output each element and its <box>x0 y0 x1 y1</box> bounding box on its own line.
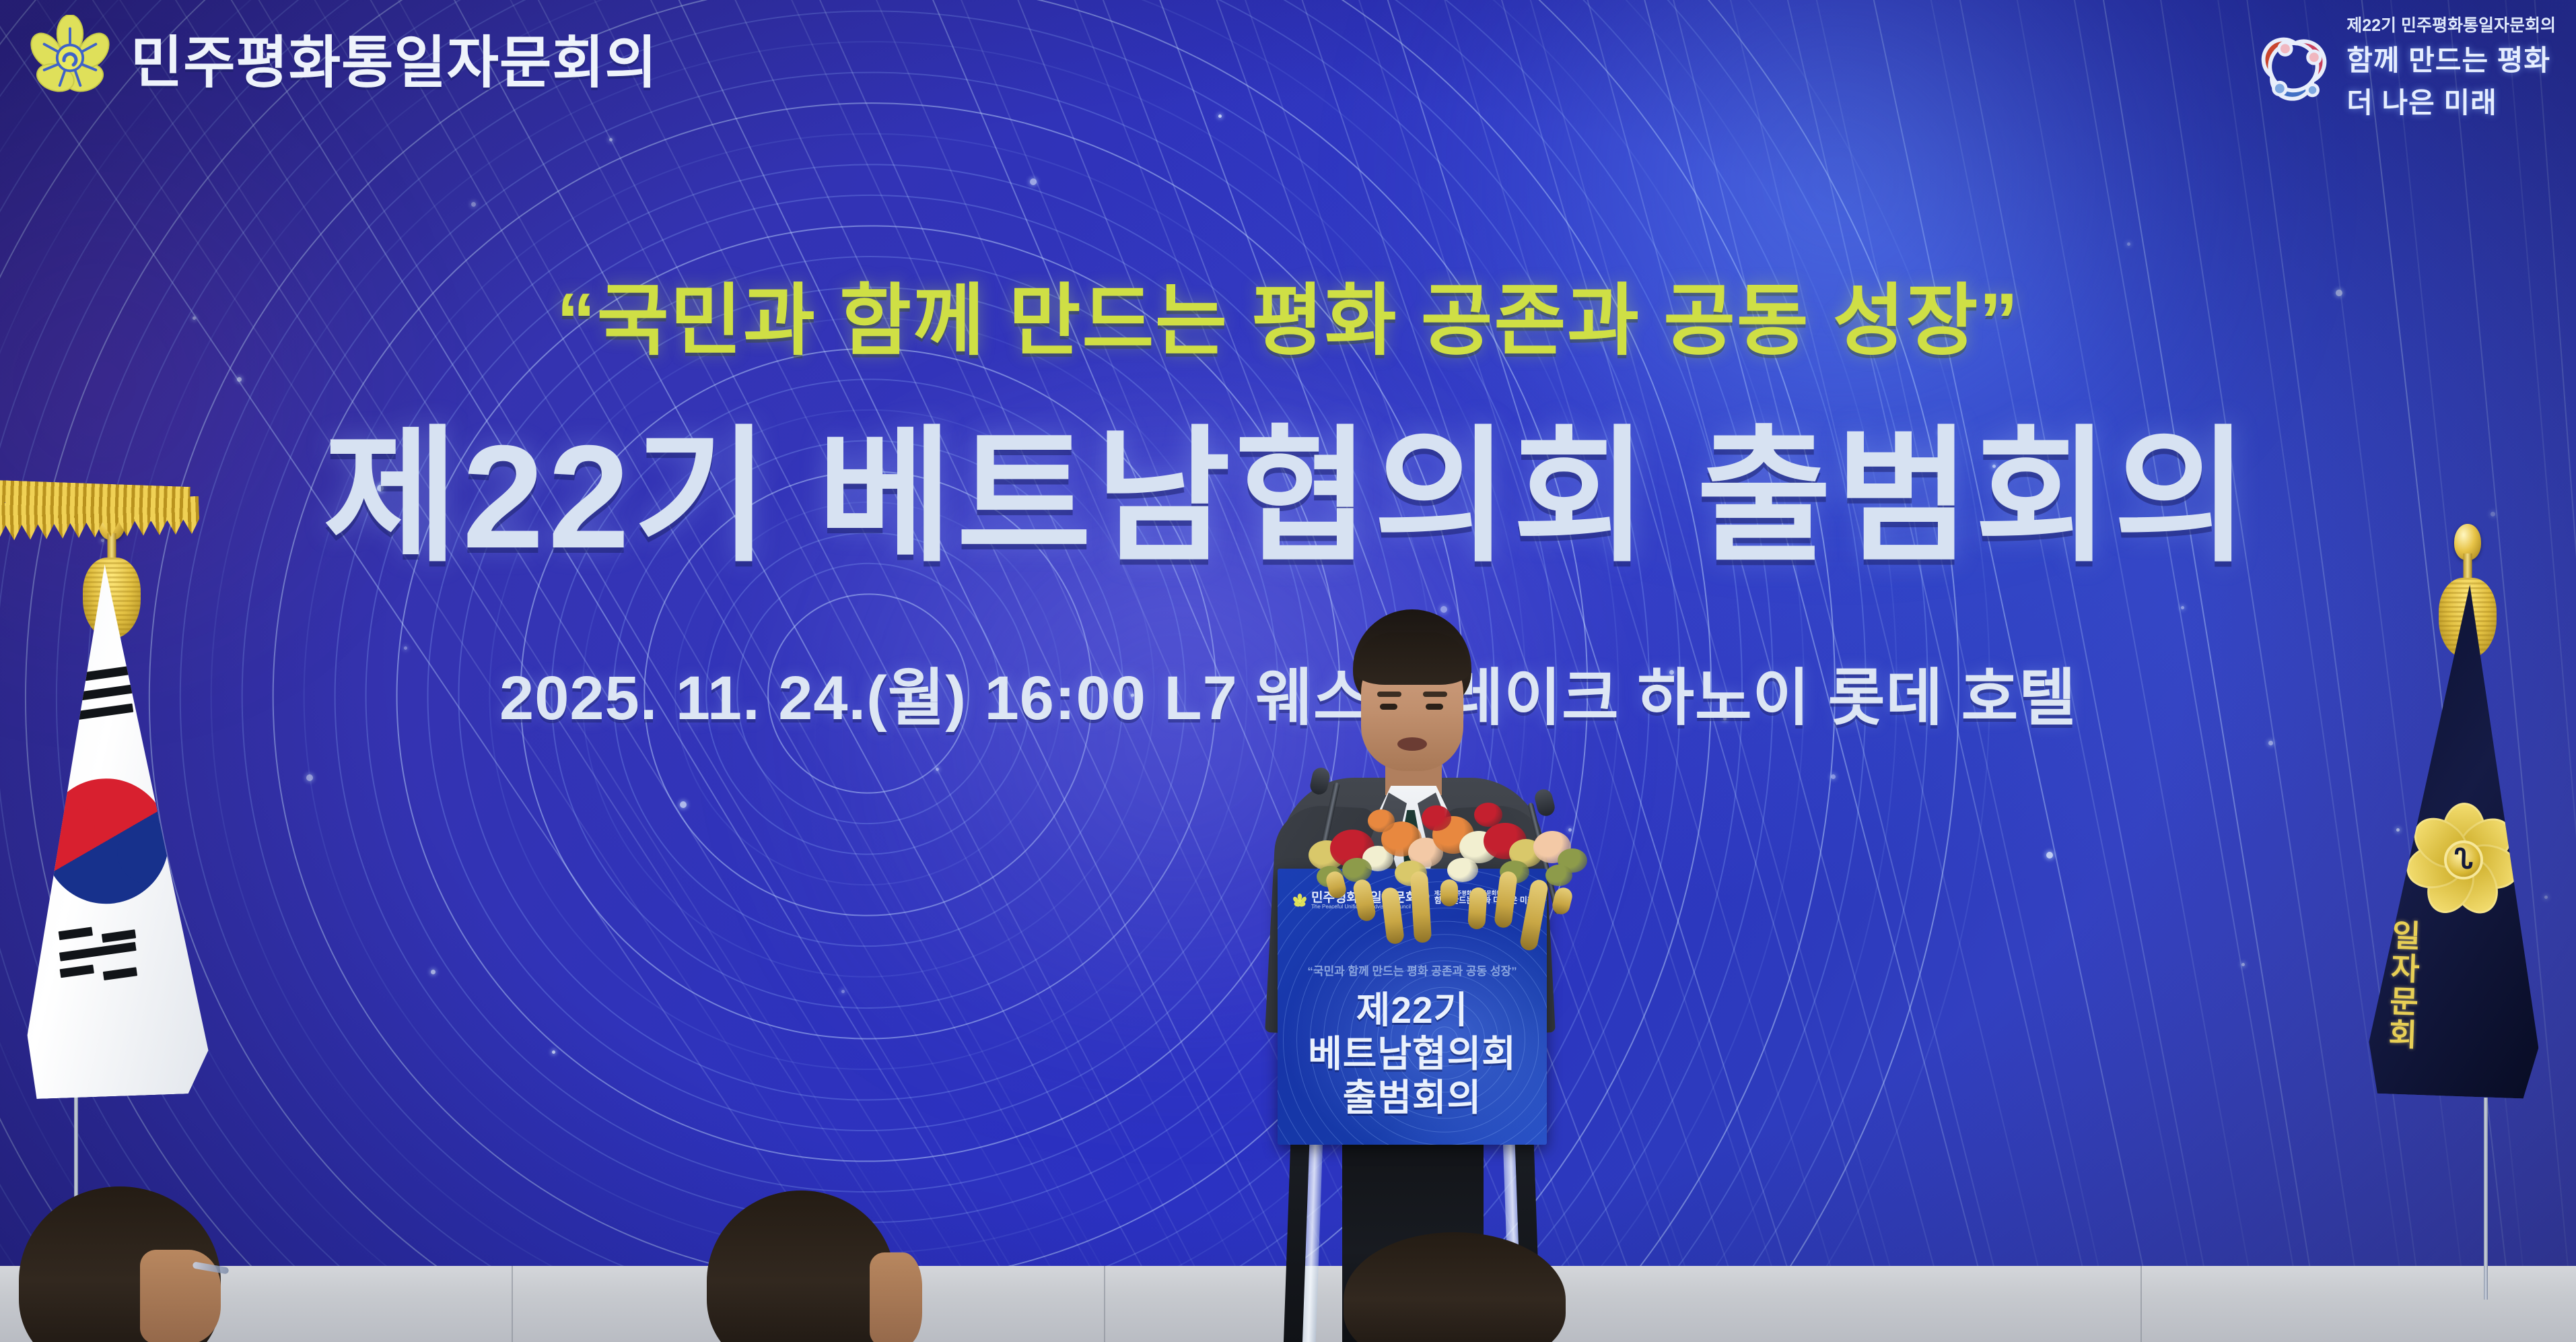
podium-title-line2: 베트남협의회 <box>1278 1032 1547 1076</box>
backdrop-quote-line: “국민과 함께 만드는 평화 공존과 공동 성장” <box>0 257 2576 370</box>
podium-title-line1: 제22기 <box>1278 988 1547 1032</box>
podium-quote: “국민과 함께 만드는 평화 공존과 공동 성장” <box>1278 962 1547 978</box>
backdrop-logo-right-line1: 제22기 민주평화통일자문회의 <box>2346 12 2556 36</box>
pinwheel-emblem-icon <box>2256 28 2334 106</box>
backdrop-logo-right-line2: 함께 만드는 평화 <box>2346 38 2556 79</box>
gold-mugunghwa-emblem-icon <box>2404 805 2521 916</box>
right-flag-stand <box>2484 1098 2488 1300</box>
backdrop-headline: 제22기 베트남협의회 출범회의 <box>0 377 2576 590</box>
mugunghwa-flower-emblem-icon <box>27 15 113 101</box>
backdrop-logo-left-wordmark: 민주평화통일자문회의 <box>131 18 658 99</box>
podium-title: 제22기 베트남협의회 출범회의 <box>1278 988 1547 1120</box>
podium-floral-arrangement <box>1300 796 1603 897</box>
backdrop-logo-right-line3: 더 나은 미래 <box>2346 80 2556 121</box>
backdrop-logo-right: 제22기 민주평화통일자문회의 함께 만드는 평화 더 나은 미래 <box>2256 12 2556 121</box>
conference-photo: 민주평화통일자문회의 제22기 민주평화통일자문회의 함께 만드는 평화 더 나… <box>0 0 2576 1342</box>
backdrop-logo-left: 민주평화통일자문회의 <box>27 15 658 101</box>
podium-title-line3: 출범회의 <box>1278 1076 1547 1120</box>
